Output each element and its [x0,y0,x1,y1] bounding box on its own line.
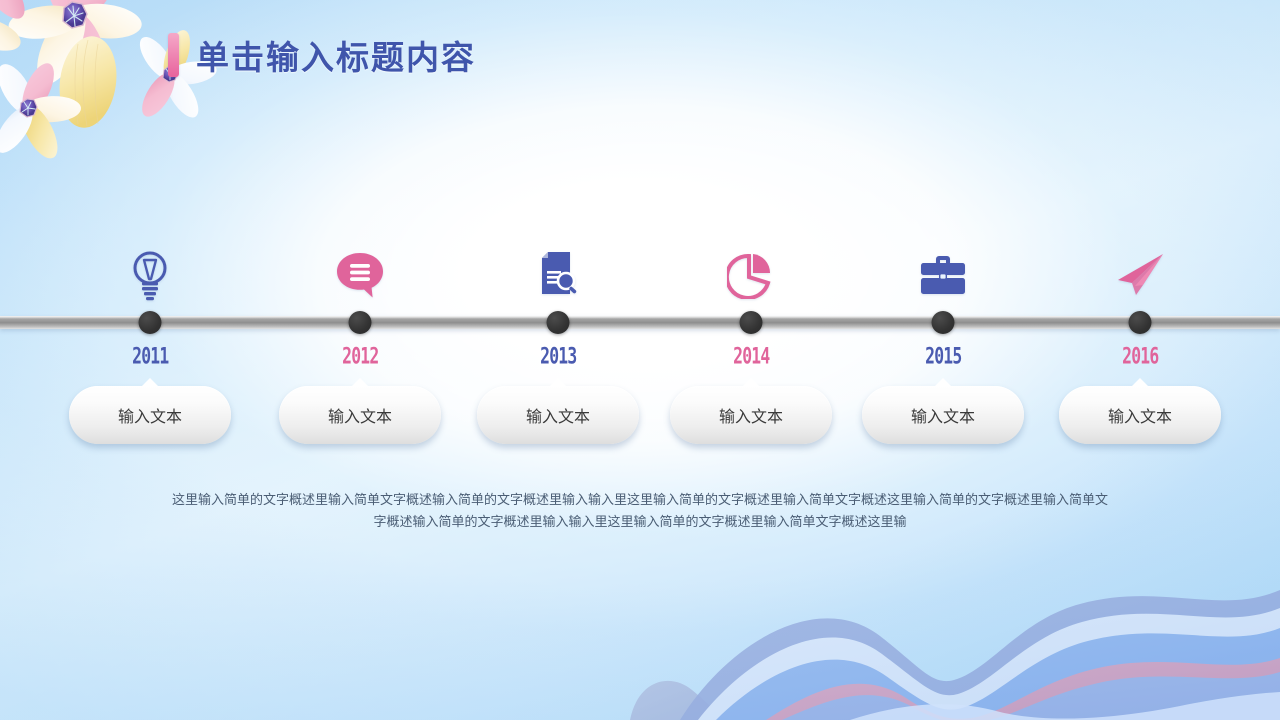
timeline-year: 2014 [651,344,851,368]
timeline-year: 2013 [458,344,658,368]
description-paragraph: 这里输入简单的文字概述里输入简单文字概述输入简单的文字概述里输入输入里这里输入简… [170,490,1110,534]
timeline-year: 2011 [50,344,250,368]
timeline-year: 2016 [1040,344,1240,368]
timeline-year: 2015 [843,344,1043,368]
timeline-dot [932,311,955,334]
timeline-dot [139,311,162,334]
timeline-bubble[interactable]: 输入文本 [1059,386,1221,444]
timeline-dot [349,311,372,334]
bubble-label: 输入文本 [118,403,182,427]
timeline-bubble[interactable]: 输入文本 [862,386,1024,444]
timeline-bubble[interactable]: 输入文本 [670,386,832,444]
timeline-node-2013[interactable]: 2013 输入文本 [458,0,658,720]
pie-chart-icon [723,247,779,303]
timeline-node-2011[interactable]: 2011 输入文本 [50,0,250,720]
briefcase-icon [915,247,971,303]
bubble-label: 输入文本 [526,403,590,427]
timeline-bubble[interactable]: 输入文本 [69,386,231,444]
bubble-label: 输入文本 [911,403,975,427]
document-search-icon [530,247,586,303]
timeline-bubble[interactable]: 输入文本 [279,386,441,444]
timeline-node-2016[interactable]: 2016 输入文本 [1040,0,1240,720]
bubble-label: 输入文本 [328,403,392,427]
timeline-year: 2012 [260,344,460,368]
timeline-bubble[interactable]: 输入文本 [477,386,639,444]
timeline-dot [547,311,570,334]
speech-bubble-icon [332,247,388,303]
timeline-node-2012[interactable]: 2012 输入文本 [260,0,460,720]
paper-plane-icon [1112,247,1168,303]
bubble-label: 输入文本 [719,403,783,427]
timeline-node-2015[interactable]: 2015 输入文本 [843,0,1043,720]
timeline-node-2014[interactable]: 2014 输入文本 [651,0,851,720]
bubble-label: 输入文本 [1108,403,1172,427]
timeline-dot [740,311,763,334]
lightbulb-icon [122,247,178,303]
timeline-dot [1129,311,1152,334]
